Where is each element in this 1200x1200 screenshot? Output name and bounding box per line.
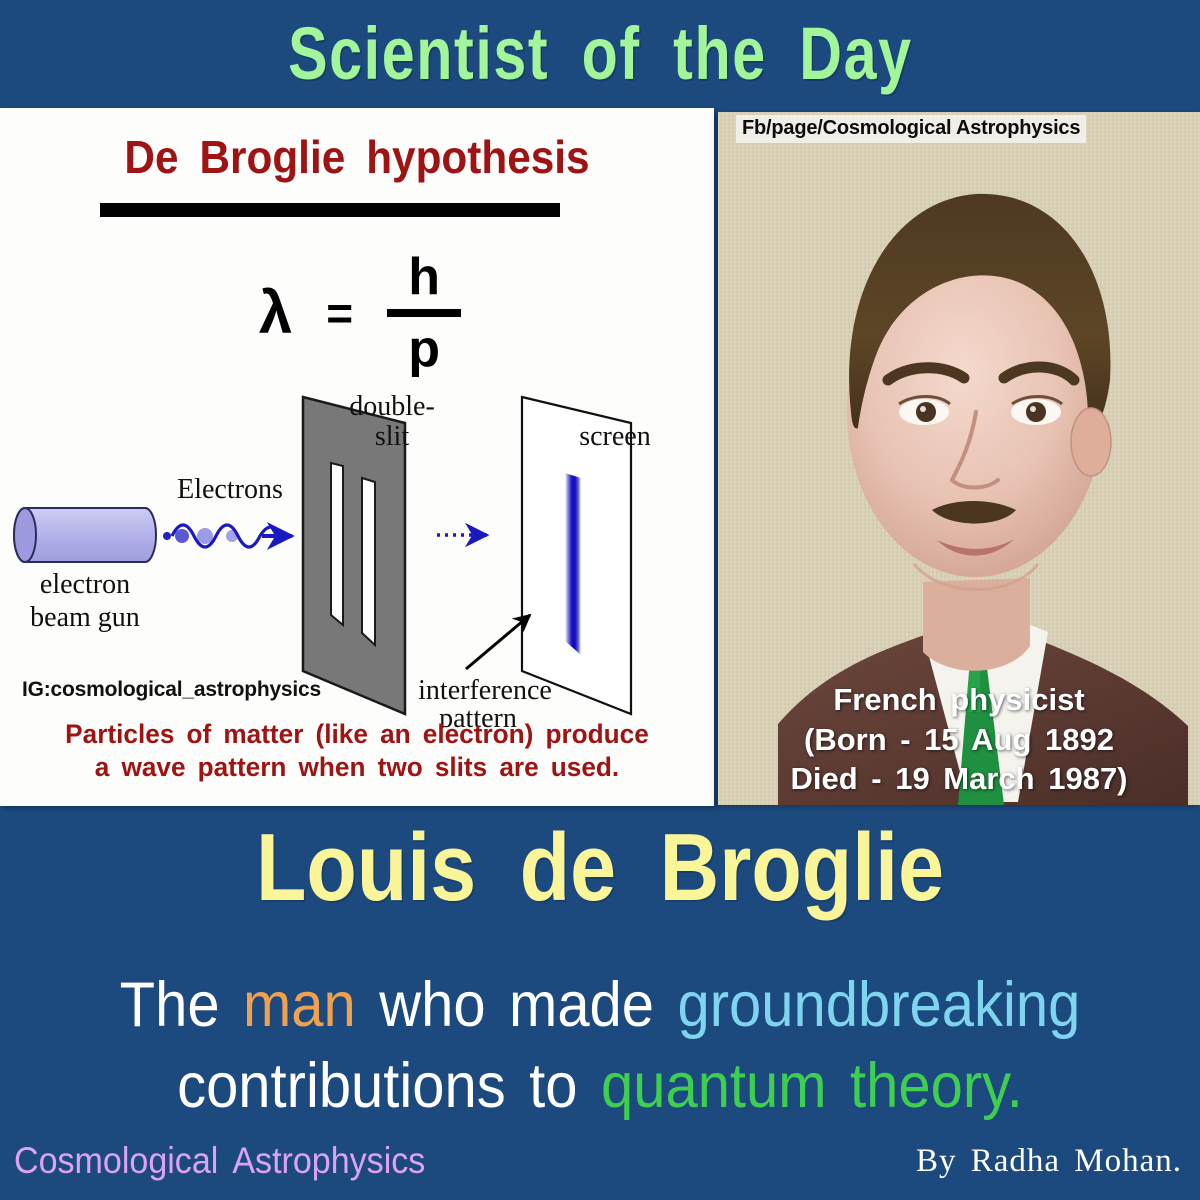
formula-equals: = [326,290,353,336]
page-title: Scientist of the Day [288,17,913,91]
panel-caption-line2: a wave pattern when two slits are used. [11,751,704,784]
bio-line-born: (Born - 15 Aug 1892 [718,720,1200,760]
scientist-name: Louis de Broglie [84,820,1116,916]
interference-pointer-arrow [466,615,530,669]
hypothesis-title: De Broglie hypothesis [29,130,686,184]
tagline-line1: The man who made groundbreaking [48,965,1152,1046]
title-underline-rule [100,203,560,217]
electron-gun-shape [14,508,156,562]
fb-page-tag: Fb/page/Cosmological Astrophysics [736,115,1086,143]
hypothesis-panel: De Broglie hypothesis λ = h p [0,108,714,806]
formula-denominator: p [408,323,440,375]
double-slit-diagram: electron beam gun Electrons double- slit… [0,383,714,728]
label-electrons: Electrons [177,474,283,505]
panel-caption-line1: Particles of matter (like an electron) p… [11,718,704,751]
header-band: Scientist of the Day [0,0,1200,108]
label-interference-line1: interference [418,675,552,706]
footer-brand: Cosmological Astrophysics [14,1140,425,1182]
tagline-word-quantum-theory: quantum theory. [601,1051,1023,1121]
footer-credit: By Radha Mohan. [916,1143,1182,1180]
formula-fraction-bar [387,309,461,317]
bio-line-profession: French physicist [718,680,1200,720]
tagline-line2: contributions to quantum theory. [48,1046,1152,1127]
tagline: The man who made groundbreaking contribu… [48,965,1152,1126]
tagline-word-groundbreaking: groundbreaking [678,970,1081,1040]
formula-fraction: h p [387,251,461,375]
label-electron-gun-line2: beam gun [30,602,140,633]
scientist-photo: Fb/page/Cosmological Astrophysics French… [718,112,1200,805]
label-double-slit-line1: double- [349,391,435,422]
label-screen: screen [579,421,651,452]
scientist-bio: French physicist (Born - 15 Aug 1892 Die… [718,680,1200,799]
tagline-word-the: The [120,970,220,1040]
bio-line-died: Died - 19 March 1987) [718,759,1200,799]
tagline-word-whomade: who made [379,970,654,1040]
tagline-word-contributions: contributions to [177,1051,577,1121]
label-double-slit-line2: slit [375,421,409,452]
electron-beam-shape [163,525,292,547]
panel-caption: Particles of matter (like an electron) p… [11,718,704,784]
de-broglie-formula: λ = h p [150,248,570,378]
ig-handle: IG:cosmological_astrophysics [22,678,321,702]
label-electron-gun-line1: electron [40,569,130,600]
tagline-word-man: man [243,970,356,1040]
formula-numerator: h [408,251,440,303]
formula-lambda: λ [259,283,292,343]
poster-root: Scientist of the Day De Broglie hypothes… [0,0,1200,1200]
